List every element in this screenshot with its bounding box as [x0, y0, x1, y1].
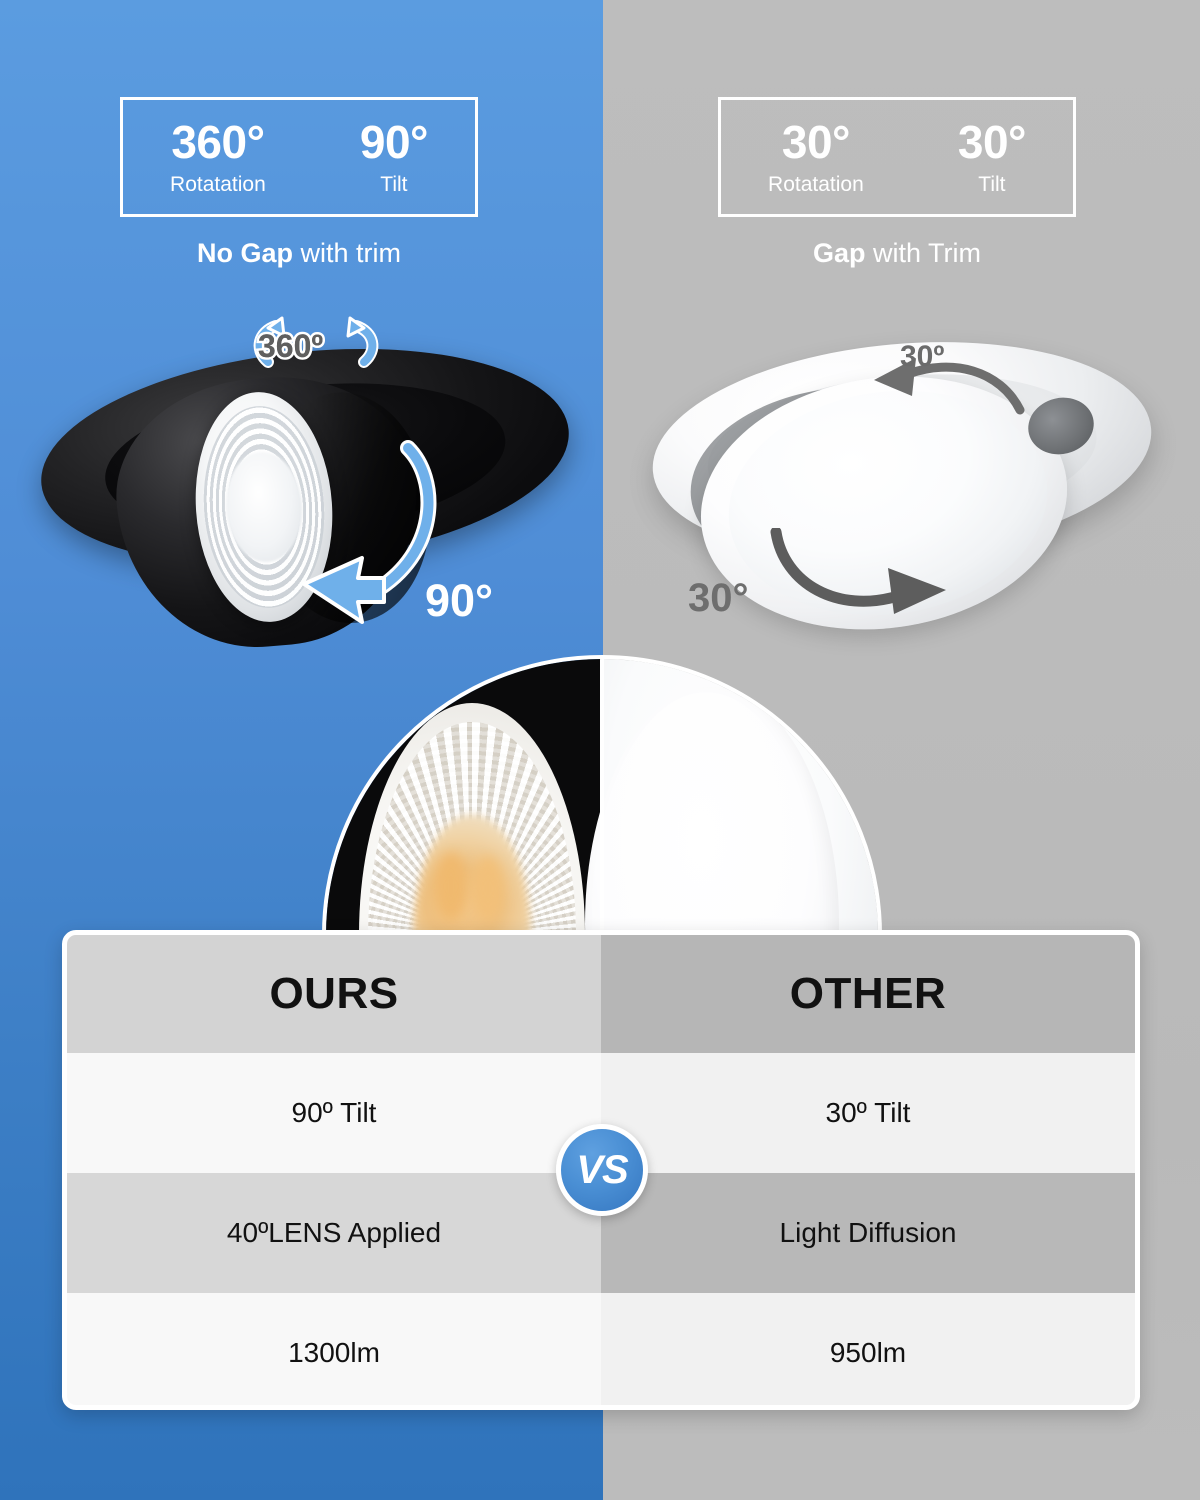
right-rotation-label: Rotatation [768, 174, 864, 195]
table-header-row: OURS OTHER [67, 935, 1135, 1053]
right-tilt-value: 30° [958, 119, 1026, 165]
left-gap-caption: No Gap with trim [89, 238, 509, 269]
rotation-30-label: 30º [900, 340, 944, 374]
left-stats-box: 360° Rotatation 90° Tilt [120, 97, 478, 217]
right-gap-caption: Gap with Trim [687, 238, 1107, 269]
left-tilt-stat: 90° Tilt [354, 119, 434, 195]
column-header-other: OTHER [601, 935, 1135, 1053]
right-tilt-label: Tilt [958, 174, 1026, 195]
cell-other-optics: Light Diffusion [601, 1173, 1135, 1293]
right-rotation-value: 30° [768, 119, 864, 165]
column-header-ours: OURS [67, 935, 601, 1053]
right-tilt-stat: 30° Tilt [952, 119, 1032, 195]
cell-ours-lumens: 1300lm [67, 1293, 601, 1410]
right-gap-caption-rest: with Trim [866, 238, 982, 268]
tilt-90-label: 90° [425, 575, 493, 627]
right-rotation-stat: 30° Rotatation [762, 119, 870, 195]
tilt-arrow-90-icon [288, 438, 538, 633]
cell-ours-tilt: 90º Tilt [67, 1053, 601, 1173]
led-die [472, 856, 504, 921]
cell-ours-optics: 40ºLENS Applied [67, 1173, 601, 1293]
left-rotation-value: 360° [170, 119, 266, 165]
right-gap-caption-strong: Gap [813, 238, 866, 268]
rotation-360-label: 360º [258, 328, 323, 365]
infographic-stage: 360° Rotatation 90° Tilt No Gap with tri… [0, 0, 1200, 1500]
tilt-30-label: 30° [688, 576, 749, 621]
rotation-arrow-30-top-icon [860, 352, 1040, 422]
left-tilt-value: 90° [360, 119, 428, 165]
cell-other-lumens: 950lm [601, 1293, 1135, 1410]
led-die [434, 852, 468, 922]
table-row: 1300lm 950lm [67, 1293, 1135, 1410]
cell-other-tilt: 30º Tilt [601, 1053, 1135, 1173]
right-stats-box: 30° Rotatation 30° Tilt [718, 97, 1076, 217]
left-gap-caption-strong: No Gap [197, 238, 293, 268]
left-rotation-label: Rotatation [170, 174, 266, 195]
tilt-arrow-30-bottom-icon [760, 528, 960, 628]
left-tilt-label: Tilt [360, 174, 428, 195]
vs-badge: VS [556, 1124, 648, 1216]
left-rotation-stat: 360° Rotatation [164, 119, 272, 195]
left-gap-caption-rest: with trim [293, 238, 401, 268]
